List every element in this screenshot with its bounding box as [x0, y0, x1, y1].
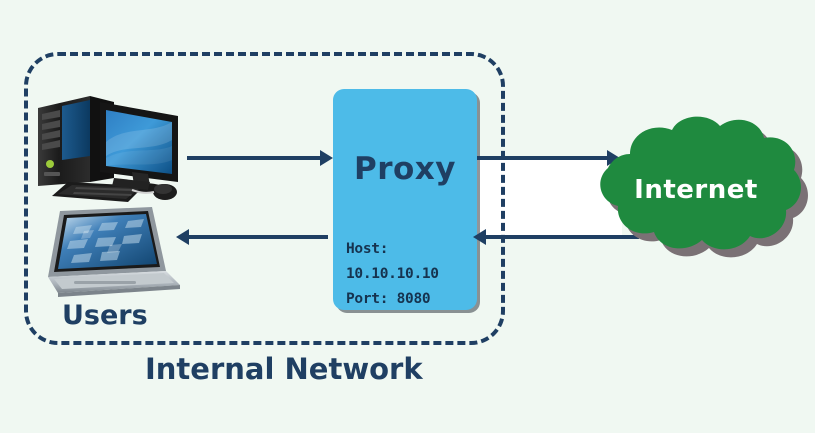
- proxy-title: Proxy: [333, 151, 477, 187]
- desktop-computer-icon: [28, 82, 188, 204]
- arrow-proxy-to-users-line: [187, 235, 328, 239]
- arrow-internet-to-proxy-head: [473, 229, 486, 245]
- proxy-details: Host: 10.10.10.10 Port: 8080: [346, 237, 477, 312]
- users-label: Users: [62, 300, 148, 331]
- arrow-users-to-proxy-head: [320, 150, 333, 166]
- internet-cloud: Internet: [586, 112, 814, 272]
- laptop-icon: [40, 205, 188, 301]
- internal-network-label: Internal Network: [145, 352, 423, 386]
- proxy-box: Proxy Host: 10.10.10.10 Port: 8080: [333, 89, 477, 310]
- internet-label: Internet: [586, 175, 806, 205]
- proxy-port: Port: 8080: [346, 287, 477, 312]
- arrow-users-to-proxy-line: [187, 156, 322, 160]
- diagram-canvas: Proxy Host: 10.10.10.10 Port: 8080 Inter…: [0, 0, 815, 433]
- proxy-host: Host: 10.10.10.10: [346, 237, 477, 287]
- arrow-proxy-to-users-head: [176, 229, 189, 245]
